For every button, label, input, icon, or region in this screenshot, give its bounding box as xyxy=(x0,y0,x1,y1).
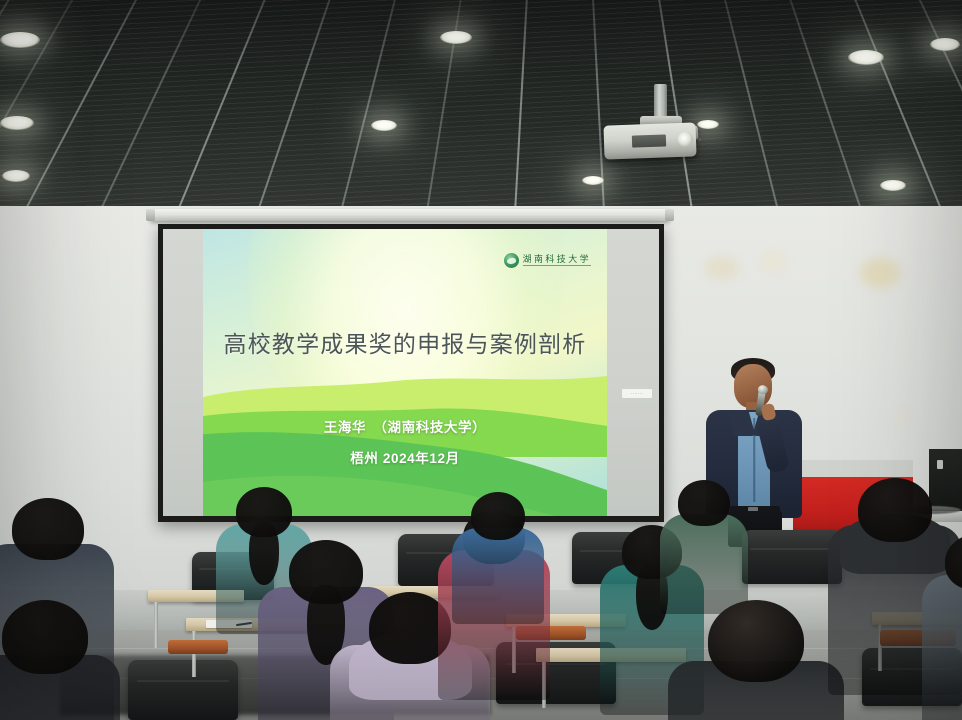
attendee-head xyxy=(471,492,525,540)
wall-mark xyxy=(860,258,900,288)
attendee-torso xyxy=(922,575,962,720)
downlight-icon xyxy=(848,50,884,65)
downlight-icon xyxy=(2,170,30,182)
chair-back[interactable] xyxy=(128,660,238,720)
slide-presenter: 王海华 （湖南科技大学） xyxy=(203,416,607,436)
screen-label-sticker: ······· xyxy=(622,389,652,398)
wall-mark xyxy=(705,256,739,280)
equipment-button[interactable] xyxy=(937,460,943,469)
ceiling-projector xyxy=(603,122,696,159)
downlight-icon xyxy=(582,176,604,185)
attendee-left-front-dark xyxy=(0,600,120,720)
attendee-torso xyxy=(452,528,544,624)
slide-title: 高校教学成果奖的申报与案例剖析 xyxy=(203,325,607,359)
downlight-icon xyxy=(0,116,34,130)
attendee-blue-shirt-mid xyxy=(452,492,544,636)
screen-surface: 湖南科技大学 高校教学成果奖的申报与案例剖析 王海华 （湖南科技大学） 梧州 2… xyxy=(163,229,659,516)
roller-cap-right xyxy=(665,209,674,221)
attendee-head xyxy=(12,498,84,560)
attendee-head xyxy=(678,480,730,526)
downlight-icon xyxy=(930,38,960,51)
attendee-head xyxy=(2,600,88,674)
projector-mount-pole xyxy=(654,84,667,120)
ceiling-texture xyxy=(0,0,962,214)
attendee-head xyxy=(708,600,804,682)
roller-cap-left xyxy=(146,209,155,221)
downlight-icon xyxy=(697,120,719,129)
downlight-icon xyxy=(0,32,40,48)
attendee-short-hair-front xyxy=(668,600,844,720)
lecture-hall-photo: 湖南科技大学 高校教学成果奖的申报与案例剖析 王海华 （湖南科技大学） 梧州 2… xyxy=(0,0,962,720)
slide-institution-logo: 湖南科技大学 xyxy=(504,253,591,268)
wall-mark xyxy=(893,412,911,424)
screen-roller-casing xyxy=(150,209,670,221)
attendee-far-right-edge xyxy=(922,534,962,720)
ceiling xyxy=(0,0,962,214)
chair-back[interactable] xyxy=(742,530,842,584)
projector-label xyxy=(632,134,666,147)
presentation-slide: 湖南科技大学 高校教学成果奖的申报与案例剖析 王海华 （湖南科技大学） 梧州 2… xyxy=(203,229,607,516)
downlight-icon xyxy=(880,180,906,191)
attendee-head xyxy=(236,487,292,537)
projector-lens-icon xyxy=(678,132,694,148)
logo-text-wrap: 湖南科技大学 xyxy=(523,255,591,266)
downlight-icon xyxy=(440,31,472,44)
desk-leg xyxy=(154,602,158,648)
desk-leg xyxy=(192,631,196,677)
wall-mark xyxy=(760,250,786,272)
university-emblem-icon xyxy=(504,253,519,268)
projection-screen[interactable]: 湖南科技大学 高校教学成果奖的申报与案例剖析 王海华 （湖南科技大学） 梧州 2… xyxy=(158,224,664,522)
attendee-head xyxy=(858,478,932,542)
downlight-icon xyxy=(371,120,397,131)
logo-institution-name: 湖南科技大学 xyxy=(523,255,591,264)
slide-place-date: 梧州 2024年12月 xyxy=(203,447,607,467)
logo-underline xyxy=(523,265,591,266)
